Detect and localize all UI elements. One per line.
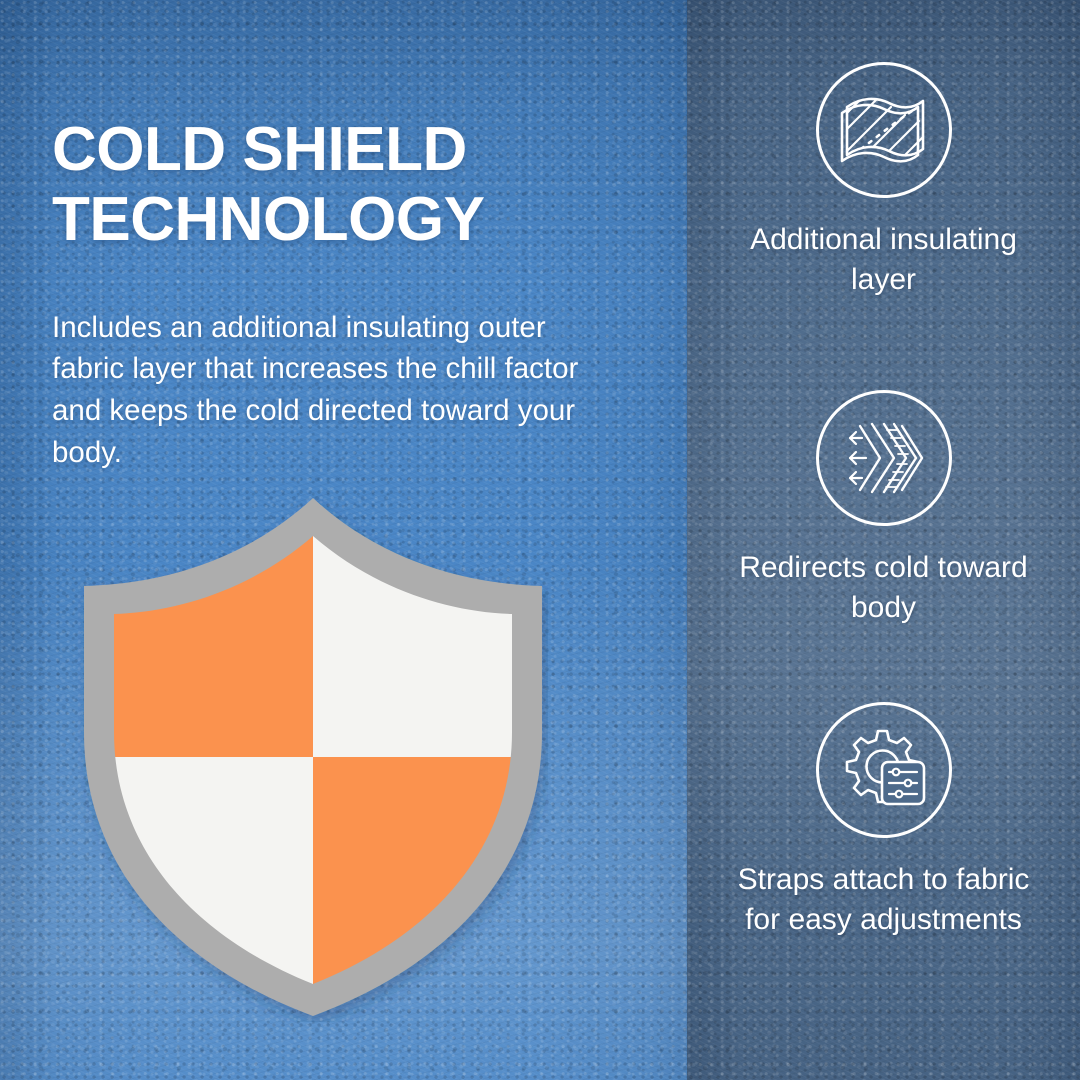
feature-item-redirects-cold: Redirects cold toward body <box>687 390 1080 628</box>
infographic-canvas: COLD SHIELD TECHNOLOGY Includes an addit… <box>0 0 1080 1080</box>
gear-sliders-icon <box>816 702 952 838</box>
feature-label: Redirects cold toward body <box>687 548 1080 628</box>
feature-label: Straps attach to fabric for easy adjustm… <box>687 860 1080 940</box>
feature-label: Additional insulating layer <box>687 220 1080 300</box>
feature-item-strap-adjustments: Straps attach to fabric for easy adjustm… <box>687 702 1080 940</box>
description-text: Includes an additional insulating outer … <box>52 307 618 475</box>
feature-item-insulating-layer: Additional insulating layer <box>687 62 1080 300</box>
cold-shield-emblem <box>78 492 548 1022</box>
fabric-layer-icon <box>816 62 952 198</box>
shield-quadrants <box>78 492 548 1022</box>
page-title-line-1: COLD SHIELD <box>52 115 467 184</box>
layered-chevrons-icon <box>816 390 952 526</box>
page-title-line-2: TECHNOLOGY <box>52 185 652 255</box>
page-title: COLD SHIELD TECHNOLOGY <box>52 115 652 255</box>
